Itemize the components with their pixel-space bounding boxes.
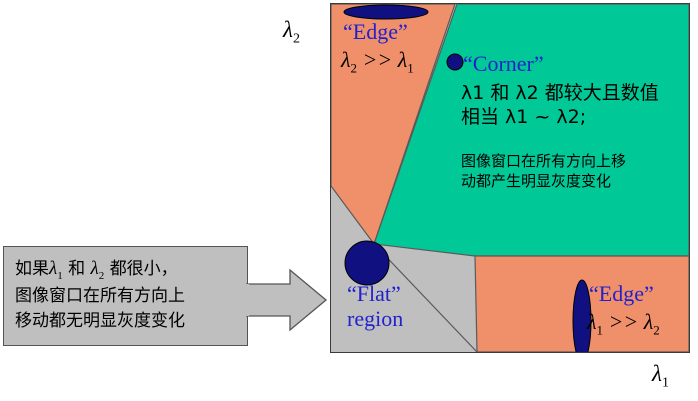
arrow-right-shape	[246, 270, 326, 330]
edge-right-math: λ1 >> λ2	[587, 310, 660, 338]
edge-right-label: “Edge”	[589, 282, 654, 307]
flat-region-callout-box: 如果λ1 和 λ2 都很小， 图像窗口在所有方向上 移动都无明显灰度变化	[3, 246, 248, 346]
callout-text: 如果λ1 和 λ2 都很小， 图像窗口在所有方向上 移动都无明显灰度变化	[15, 256, 185, 333]
arrow-right-icon	[246, 268, 328, 332]
edge-right-math-left: λ	[587, 309, 597, 334]
callout-line-2: 图像窗口在所有方向上	[15, 284, 185, 308]
edge-top-math-right: λ	[398, 47, 408, 72]
corner-description-line-1: λ1 和 λ2 都较大且数值	[461, 82, 659, 106]
edge-top-label: “Edge”	[343, 20, 408, 45]
flat-region-label-line-2: region	[347, 307, 403, 332]
figure-stage: λ2 λ1 “Edge” λ2 >> λ1	[0, 0, 698, 401]
edge-right-math-right-sub: 2	[653, 322, 660, 337]
eigenvalue-plot-box: “Edge” λ2 >> λ1 “Corner” λ1 和 λ2 都较大且数值 …	[330, 3, 690, 353]
flat-blob-icon	[345, 241, 389, 285]
x-axis-lambda: λ	[652, 361, 662, 386]
corner-blob-icon	[447, 54, 463, 70]
callout-arrow	[246, 268, 328, 332]
corner-description: λ1 和 λ2 都较大且数值 相当 λ1 ~ λ2;	[461, 82, 659, 130]
callout-line-3: 移动都无明显灰度变化	[15, 309, 185, 333]
corner-description-line-2: 相当 λ1 ~ λ2;	[461, 106, 659, 130]
callout-line-1-prefix: 如果	[15, 259, 49, 279]
y-axis-lambda: λ	[283, 17, 293, 42]
edge-right-math-op: >>	[609, 309, 639, 334]
callout-lambda-1: λ1	[49, 258, 63, 279]
callout-lambda-2: λ2	[91, 258, 105, 279]
y-axis-subscript: 2	[293, 32, 300, 47]
callout-line-1: 如果λ1 和 λ2 都很小，	[15, 256, 185, 284]
edge-top-math: λ2 >> λ1	[341, 48, 414, 76]
y-axis-label: λ2	[283, 18, 300, 47]
corner-label: “Corner”	[463, 52, 544, 77]
corner-description-line-4: 动都产生明显灰度变化	[461, 172, 626, 192]
edge-top-math-left: λ	[341, 47, 351, 72]
edge-top-math-op: >>	[363, 47, 393, 72]
callout-line-1-mid: 和	[68, 259, 85, 279]
flat-region-label-line-1: “Flat”	[347, 282, 403, 307]
edge-top-blob-icon	[344, 5, 428, 19]
arrow-join-patch	[246, 284, 249, 316]
corner-description-secondary: 图像窗口在所有方向上移 动都产生明显灰度变化	[461, 152, 626, 191]
callout-line-1-suffix: 都很小，	[110, 259, 178, 279]
edge-right-math-right: λ	[644, 309, 654, 334]
x-axis-label: λ1	[652, 362, 669, 391]
edge-right-math-left-sub: 1	[597, 322, 604, 337]
flat-region-label: “Flat” region	[347, 282, 403, 331]
edge-top-math-right-sub: 1	[407, 60, 414, 75]
edge-top-math-left-sub: 2	[351, 60, 358, 75]
x-axis-subscript: 1	[662, 376, 669, 391]
corner-description-line-3: 图像窗口在所有方向上移	[461, 152, 626, 172]
